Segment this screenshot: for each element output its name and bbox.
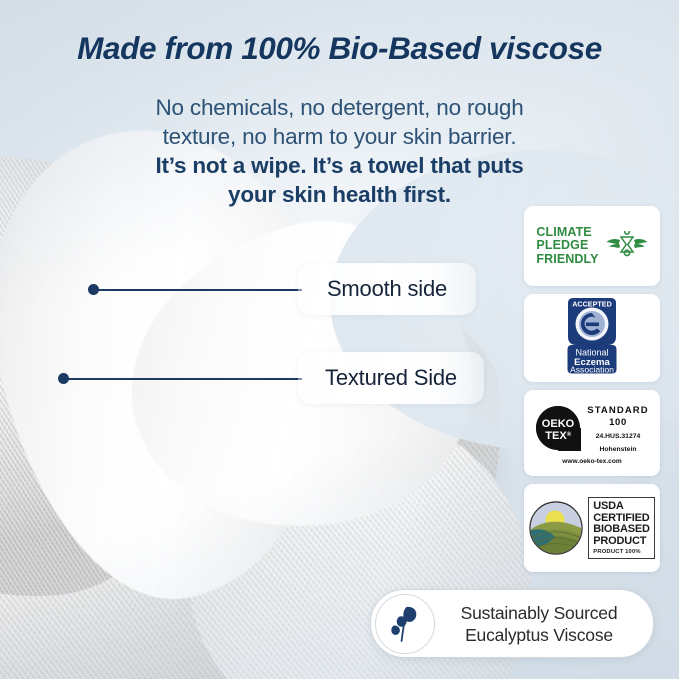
product-marketing-image: Made from 100% Bio-Based viscose No chem… — [0, 0, 679, 679]
eucalyptus-leaf-icon — [386, 604, 424, 644]
subheading-line-2: texture, no harm to your skin barrier. — [55, 122, 624, 151]
oeko-tex-icon: OEKO TEX ® — [535, 405, 581, 451]
winged-hourglass-icon — [606, 231, 648, 261]
oeko-standard-number: 100 — [587, 417, 648, 429]
subheading-line-4: your skin health first. — [55, 180, 624, 209]
callout-textured-side-label: Textured Side — [325, 365, 457, 391]
badge-climate-pledge-friendly: CLIMATE PLEDGE FRIENDLY — [524, 206, 660, 286]
usda-biobased-sun-field-icon — [529, 501, 583, 555]
eucalyptus-pill-line-1: Sustainably Sourced — [435, 602, 643, 624]
badge-national-eczema-association: ACCEPTED National Eczema Association — [524, 294, 660, 382]
eucalyptus-pill-line-2: Eucalyptus Viscose — [435, 624, 643, 646]
eucalyptus-pill-text: Sustainably Sourced Eucalyptus Viscose — [435, 602, 653, 646]
badge-oeko-tex: OEKO TEX ® STANDARD 100 24.HUS.31274 Hoh… — [524, 390, 660, 476]
climate-pledge-line-1: CLIMATE — [536, 226, 598, 240]
subheading: No chemicals, no detergent, no rough tex… — [55, 93, 624, 209]
climate-pledge-text: CLIMATE PLEDGE FRIENDLY — [536, 226, 598, 267]
subheading-line-3: It’s not a wipe. It’s a towel that puts — [55, 151, 624, 180]
climate-pledge-line-3: FRIENDLY — [536, 253, 598, 267]
svg-text:TEX: TEX — [546, 430, 568, 442]
usda-line-4: PRODUCT — [593, 536, 649, 548]
nea-accepted-arc: ACCEPTED — [572, 299, 612, 308]
svg-text:Association: Association — [570, 364, 614, 374]
oeko-certificate-number: 24.HUS.31274 — [587, 432, 648, 442]
oeko-url: www.oeko-tex.com — [535, 458, 648, 465]
callout-textured-side: Textured Side — [298, 352, 484, 404]
usda-sub-label: PRODUCT 100% — [593, 549, 649, 555]
eucalyptus-icon-circle — [375, 594, 435, 654]
callout-smooth-side: Smooth side — [298, 263, 476, 315]
subheading-line-1: No chemicals, no detergent, no rough — [55, 93, 624, 122]
usda-line-1: USDA — [593, 501, 649, 513]
usda-text-box: USDA CERTIFIED BIOBASED PRODUCT PRODUCT … — [588, 497, 654, 559]
badge-usda-certified-biobased: USDA CERTIFIED BIOBASED PRODUCT PRODUCT … — [524, 484, 660, 572]
eucalyptus-source-pill: Sustainably Sourced Eucalyptus Viscose — [370, 589, 654, 658]
climate-pledge-line-2: PLEDGE — [536, 239, 598, 253]
svg-text:®: ® — [567, 431, 572, 438]
callout-leader-smooth — [96, 289, 302, 291]
svg-text:National: National — [575, 347, 608, 357]
certification-badge-list: CLIMATE PLEDGE FRIENDLY — [524, 206, 660, 580]
page-title: Made from 100% Bio-Based viscose — [0, 30, 679, 67]
svg-text:OEKO: OEKO — [542, 418, 575, 430]
callout-smooth-side-label: Smooth side — [327, 276, 447, 302]
nea-seal-icon: ACCEPTED National Eczema Association — [556, 297, 628, 375]
callout-leader-textured — [66, 378, 302, 380]
oeko-standard-label: STANDARD — [587, 405, 648, 417]
oeko-institute: Hohenstein — [587, 445, 648, 455]
